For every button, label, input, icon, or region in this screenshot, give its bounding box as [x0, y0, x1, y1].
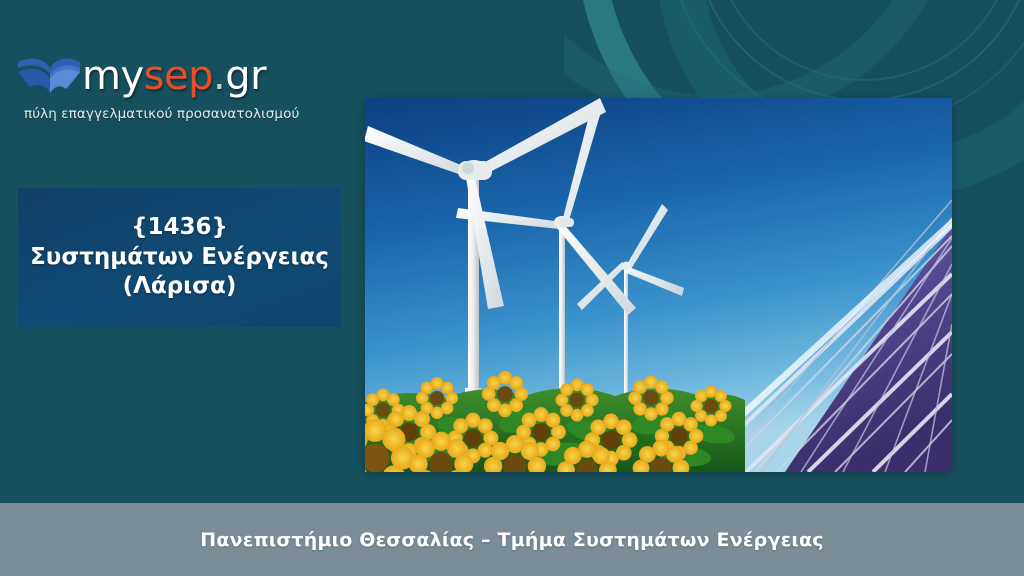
- presentation-slide: mysep.gr πύλη επαγγελματικού προσανατολι…: [0, 0, 1024, 576]
- logo-word-dot: .: [213, 53, 225, 99]
- slide-footer: Πανεπιστήμιο Θεσσαλίας – Τμήμα Συστημάτω…: [0, 503, 1024, 576]
- open-book-icon: [16, 54, 82, 104]
- department-title-box: {1436} Συστημάτων Ενέργειας (Λάρισα): [18, 188, 341, 327]
- logo-wordmark: mysep.gr: [82, 53, 266, 99]
- renewable-energy-photo: [365, 98, 952, 472]
- renewable-energy-illustration: [365, 98, 952, 472]
- logo-word-gr: gr: [225, 53, 266, 99]
- department-title-text: {1436} Συστημάτων Ενέργειας (Λάρισα): [22, 213, 337, 303]
- logo-tagline: πύλη επαγγελματικού προσανατολισμού: [24, 106, 299, 122]
- logo-word-sep: sep: [144, 53, 213, 99]
- footer-text: Πανεπιστήμιο Θεσσαλίας – Τμήμα Συστημάτω…: [200, 529, 823, 551]
- logo-word-my: my: [82, 53, 144, 99]
- mysep-logo[interactable]: mysep.gr πύλη επαγγελματικού προσανατολι…: [14, 48, 264, 128]
